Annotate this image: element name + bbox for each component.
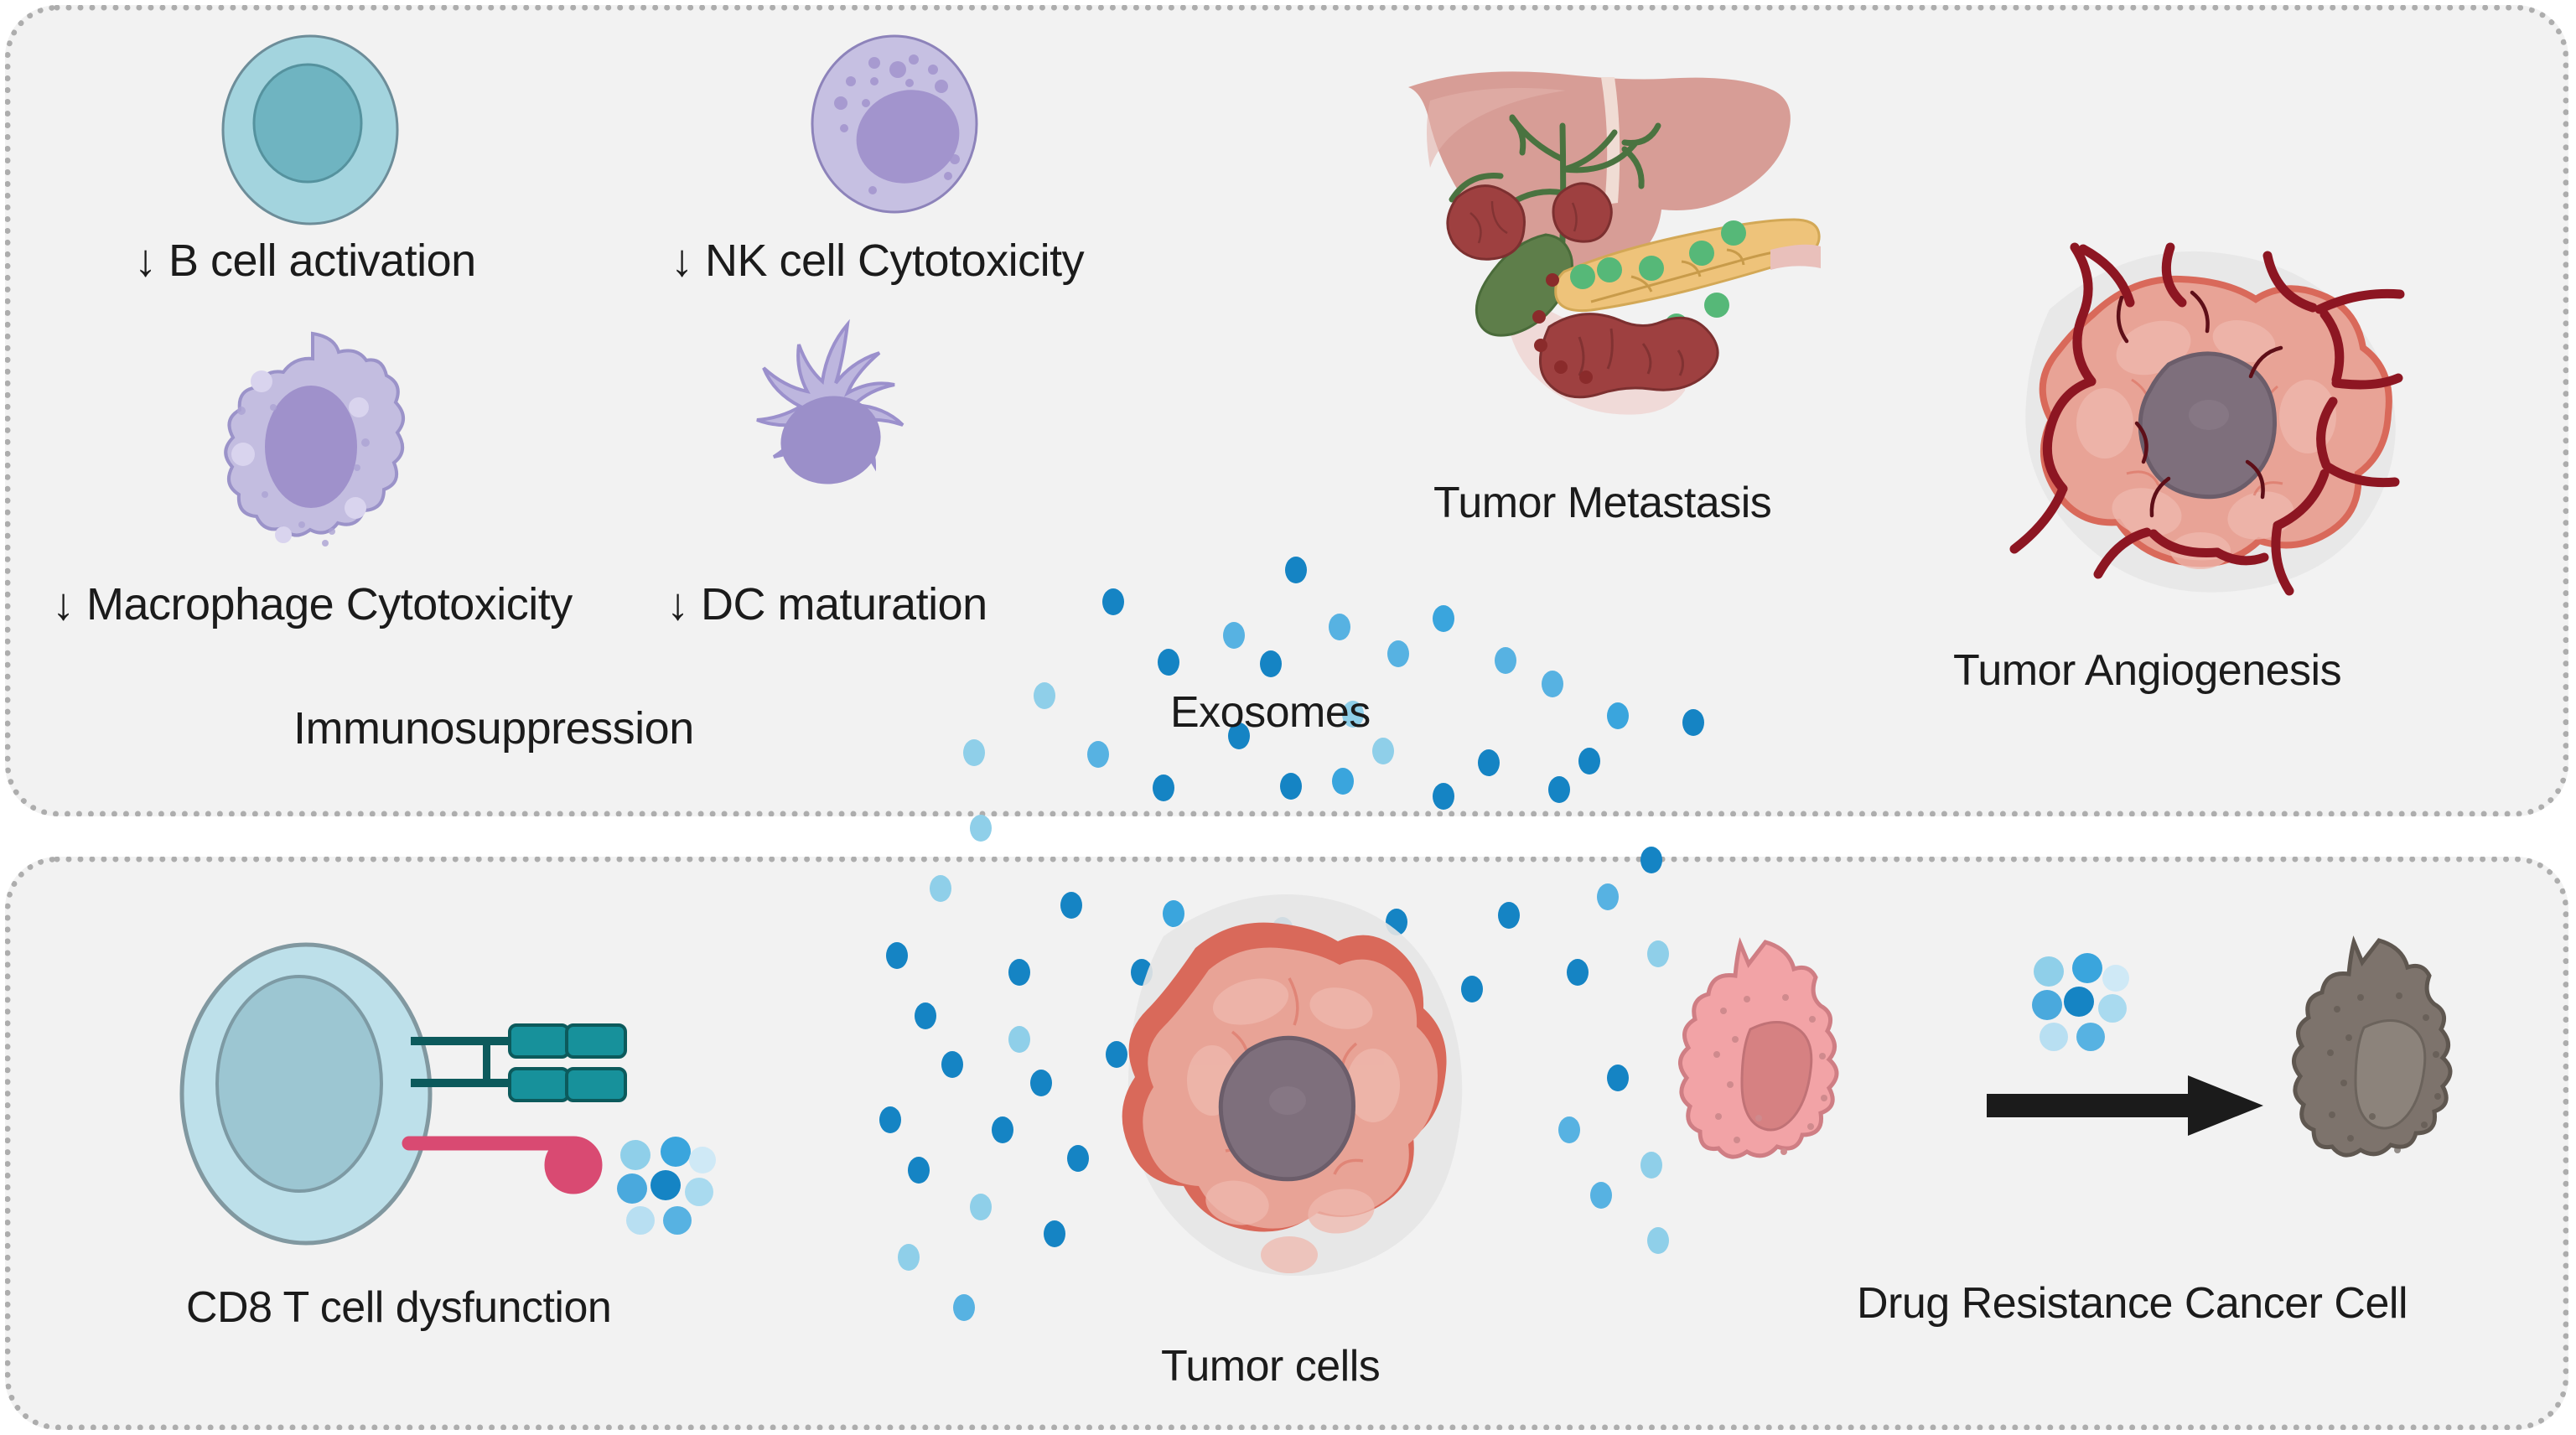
b-cell-icon (210, 29, 411, 235)
tumor-metastasis-label: Tumor Metastasis (1433, 478, 1771, 528)
cd8-t-cell-label: CD8 T cell dysfunction (186, 1282, 611, 1333)
drug-resistance-label: Drug Resistance Cancer Cell (1857, 1278, 2408, 1329)
resistant-cancer-cell-icon (2297, 937, 2477, 1201)
nk-cell-icon (801, 29, 989, 222)
exosomes-label: Exosomes (1170, 687, 1371, 738)
tcr-receptor-icon (411, 1018, 671, 1119)
tumor-angiogenesis-label: Tumor Angiogenesis (1953, 645, 2341, 696)
b-cell-label: ↓ B cell activation (134, 235, 476, 287)
right-arrow-icon (1987, 1069, 2263, 1144)
tumor-cells-label: Tumor cells (1161, 1341, 1380, 1391)
macrophage-icon (191, 327, 434, 578)
figure-canvas: ↓ B cell activation ↓ NK cell Cytotoxici… (0, 0, 2576, 1435)
nk-cell-label: ↓ NK cell Cytotoxicity (671, 235, 1084, 287)
tumor-cell-icon (1065, 876, 1484, 1345)
angiogenesis-tumor-icon (1949, 222, 2418, 624)
liver-pancreas-metastasis-icon (1366, 25, 1819, 419)
immunosuppression-label: Immunosuppression (293, 702, 694, 754)
macrophage-label: ↓ Macrophage Cytotoxicity (52, 578, 573, 630)
exosome-cluster-icon-drug (2027, 951, 2128, 1052)
exosome-cluster-icon (612, 1133, 713, 1234)
